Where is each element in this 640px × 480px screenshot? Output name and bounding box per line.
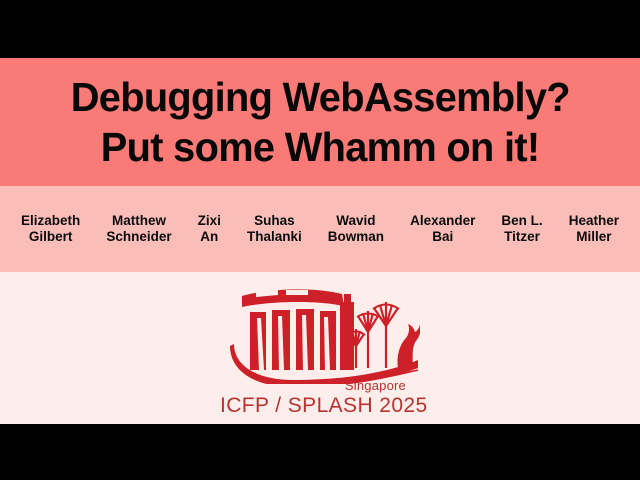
- author-family-name: Miller: [558, 229, 630, 246]
- logo-location-label: Singapore: [345, 378, 406, 393]
- title-band: Debugging WebAssembly? Put some Whamm on…: [0, 58, 640, 186]
- letterbox-bar-top: [0, 0, 640, 58]
- author-family-name: Titzer: [490, 229, 553, 246]
- author-entry: Alexander Bai: [397, 213, 488, 246]
- letterbox-bar-bottom: [0, 424, 640, 480]
- author-entry: Zixi An: [185, 213, 234, 246]
- presentation-slide: Debugging WebAssembly? Put some Whamm on…: [0, 0, 640, 480]
- author-family-name: An: [187, 229, 232, 246]
- author-given-name: Elizabeth: [10, 213, 91, 230]
- author-entry: Elizabeth Gilbert: [8, 213, 93, 246]
- authors-row: Elizabeth Gilbert Matthew Schneider Zixi…: [0, 213, 640, 246]
- author-family-name: Bai: [399, 229, 486, 246]
- logo-conference-label: ICFP / SPLASH 2025: [220, 394, 420, 418]
- author-entry: Wavid Bowman: [315, 213, 397, 246]
- title-line-1: Debugging WebAssembly?: [70, 72, 569, 122]
- author-entry: Suhas Thalanki: [234, 213, 315, 246]
- conference-logo: Singapore ICFP / SPLASH 2025: [220, 284, 420, 416]
- author-given-name: Alexander: [399, 213, 486, 230]
- author-family-name: Schneider: [95, 229, 182, 246]
- author-entry: Ben L. Titzer: [488, 213, 555, 246]
- singapore-skyline-icon: [220, 284, 420, 384]
- author-entry: Heather Miller: [556, 213, 632, 246]
- author-given-name: Matthew: [95, 213, 182, 230]
- author-given-name: Ben L.: [490, 213, 553, 230]
- author-family-name: Gilbert: [10, 229, 91, 246]
- author-given-name: Wavid: [317, 213, 395, 230]
- title-line-2: Put some Whamm on it!: [101, 122, 540, 172]
- logo-band: Singapore ICFP / SPLASH 2025: [0, 272, 640, 424]
- author-given-name: Suhas: [236, 213, 313, 230]
- author-family-name: Bowman: [317, 229, 395, 246]
- author-given-name: Zixi: [187, 213, 232, 230]
- author-family-name: Thalanki: [236, 229, 313, 246]
- author-given-name: Heather: [558, 213, 630, 230]
- authors-band: Elizabeth Gilbert Matthew Schneider Zixi…: [0, 186, 640, 272]
- author-entry: Matthew Schneider: [93, 213, 184, 246]
